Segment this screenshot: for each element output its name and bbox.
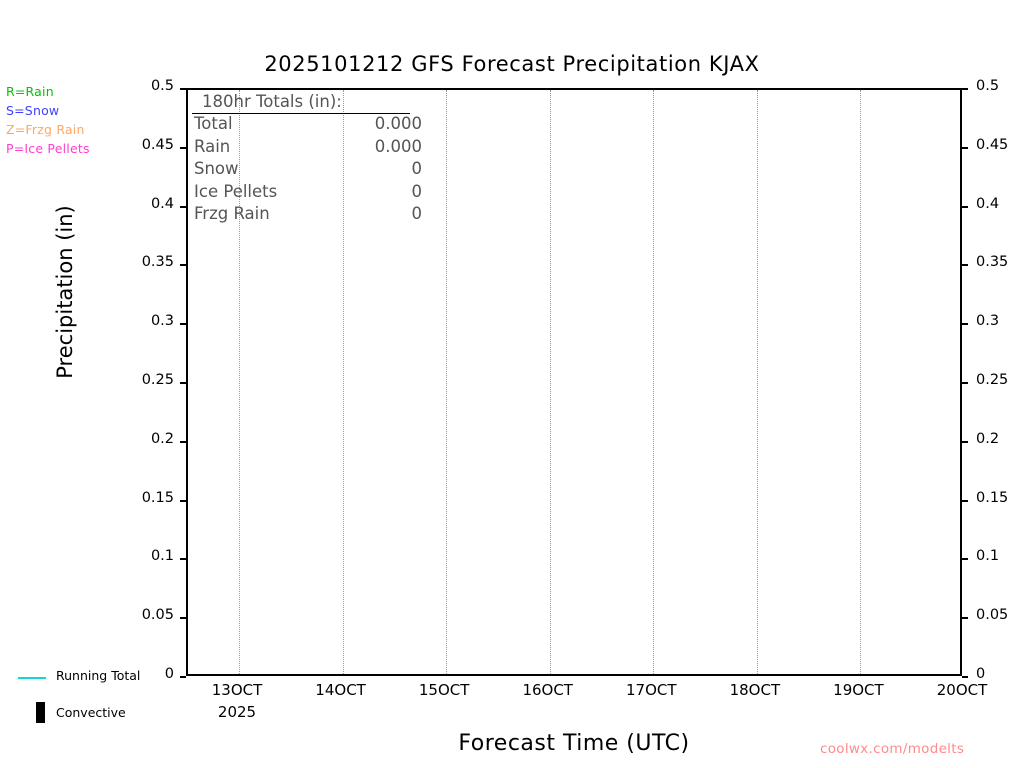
totals-row-label: Total bbox=[194, 114, 233, 133]
y-tick-label-right-4: 0.3 bbox=[976, 313, 999, 329]
x-tick-label-2: 15OCT bbox=[419, 681, 470, 699]
y-tick-label-left-3: 0.35 bbox=[142, 254, 174, 270]
convective-label: Convective bbox=[56, 705, 126, 720]
totals-row-label: Snow bbox=[194, 159, 239, 178]
x-tick-label-7: 20OCT bbox=[937, 681, 988, 699]
x-tick-label-0: 13OCT bbox=[212, 681, 263, 699]
y-tick-label-right-9: 0.05 bbox=[976, 607, 1008, 623]
y-tick-label-right-0: 0.5 bbox=[976, 78, 999, 94]
y-axis-labels-right: 0.50.450.40.350.30.250.20.150.10.050 bbox=[976, 88, 1024, 676]
totals-row-label: Frzg Rain bbox=[194, 204, 270, 223]
totals-row-label: Ice Pellets bbox=[194, 182, 277, 201]
totals-row: Total0.000 bbox=[192, 114, 442, 137]
y-tick-mark-right-4 bbox=[962, 323, 968, 325]
chart-canvas: 2025101212 GFS Forecast Precipitation KJ… bbox=[0, 0, 1024, 768]
watermark: coolwx.com/modelts bbox=[820, 741, 964, 757]
y-tick-mark-right-6 bbox=[962, 441, 968, 443]
running-total-label: Running Total bbox=[56, 668, 140, 683]
y-tick-label-left-2: 0.4 bbox=[151, 196, 174, 212]
y-axis-ticks-left bbox=[174, 88, 186, 676]
x-tick-label-1: 14OCT bbox=[315, 681, 366, 699]
y-tick-label-right-10: 0 bbox=[976, 666, 985, 682]
legend-convective: Convective bbox=[10, 702, 190, 724]
x-axis-labels: 13OCT14OCT15OCT16OCT17OCT18OCT19OCT20OCT bbox=[186, 681, 962, 705]
totals-row: Rain0.000 bbox=[192, 137, 442, 160]
y-tick-label-right-8: 0.1 bbox=[976, 548, 999, 564]
y-axis-ticks-right bbox=[962, 88, 974, 676]
y-axis-title: Precipitation (in) bbox=[53, 182, 77, 402]
x-tick-label-4: 17OCT bbox=[626, 681, 677, 699]
y-tick-label-left-5: 0.25 bbox=[142, 372, 174, 388]
gridline-vertical-6 bbox=[860, 90, 861, 674]
gridline-vertical-5 bbox=[757, 90, 758, 674]
totals-row-value: 0.000 bbox=[342, 114, 422, 133]
y-tick-mark-right-3 bbox=[962, 264, 968, 266]
totals-header: 180hr Totals (in): bbox=[192, 90, 410, 114]
totals-rows: Total0.000Rain0.000Snow0Ice Pellets0Frzg… bbox=[192, 114, 442, 227]
totals-row: Ice Pellets0 bbox=[192, 182, 442, 205]
y-tick-label-left-0: 0.5 bbox=[151, 78, 174, 94]
y-tick-label-left-4: 0.3 bbox=[151, 313, 174, 329]
totals-row-value: 0 bbox=[342, 159, 422, 178]
totals-box: 180hr Totals (in): Total0.000Rain0.000Sn… bbox=[192, 90, 442, 227]
totals-row-value: 0.000 bbox=[342, 137, 422, 156]
y-tick-mark-right-7 bbox=[962, 500, 968, 502]
y-tick-label-right-2: 0.4 bbox=[976, 196, 999, 212]
x-axis-year-label: 2025 bbox=[218, 703, 256, 721]
y-tick-mark-right-0 bbox=[962, 88, 968, 90]
gridline-vertical-3 bbox=[550, 90, 551, 674]
y-tick-mark-right-8 bbox=[962, 558, 968, 560]
y-tick-mark-right-9 bbox=[962, 617, 968, 619]
running-total-swatch bbox=[18, 677, 46, 679]
convective-swatch bbox=[36, 702, 45, 723]
y-tick-mark-right-10 bbox=[962, 676, 968, 678]
legend-running-total: Running Total bbox=[10, 668, 190, 688]
totals-row-value: 0 bbox=[342, 182, 422, 201]
totals-row: Snow0 bbox=[192, 159, 442, 182]
x-tick-label-3: 16OCT bbox=[522, 681, 573, 699]
y-axis-labels-left: 0.50.450.40.350.30.250.20.150.10.050 bbox=[108, 88, 174, 676]
y-tick-mark-right-2 bbox=[962, 206, 968, 208]
y-tick-label-left-9: 0.05 bbox=[142, 607, 174, 623]
y-tick-label-left-8: 0.1 bbox=[151, 548, 174, 564]
gridline-vertical-2 bbox=[446, 90, 447, 674]
totals-row: Frzg Rain0 bbox=[192, 204, 442, 227]
y-tick-label-right-6: 0.2 bbox=[976, 431, 999, 447]
y-tick-label-left-1: 0.45 bbox=[142, 137, 174, 153]
y-tick-label-right-1: 0.45 bbox=[976, 137, 1008, 153]
y-tick-label-left-6: 0.2 bbox=[151, 431, 174, 447]
y-tick-mark-right-1 bbox=[962, 147, 968, 149]
page-title: 2025101212 GFS Forecast Precipitation KJ… bbox=[0, 52, 1024, 76]
y-tick-label-right-5: 0.25 bbox=[976, 372, 1008, 388]
y-tick-label-right-7: 0.15 bbox=[976, 490, 1008, 506]
y-tick-label-left-7: 0.15 bbox=[142, 490, 174, 506]
y-tick-mark-right-5 bbox=[962, 382, 968, 384]
totals-row-label: Rain bbox=[194, 137, 230, 156]
gridline-vertical-4 bbox=[653, 90, 654, 674]
x-tick-label-6: 19OCT bbox=[833, 681, 884, 699]
totals-row-value: 0 bbox=[342, 204, 422, 223]
y-tick-label-right-3: 0.35 bbox=[976, 254, 1008, 270]
x-tick-label-5: 18OCT bbox=[730, 681, 781, 699]
